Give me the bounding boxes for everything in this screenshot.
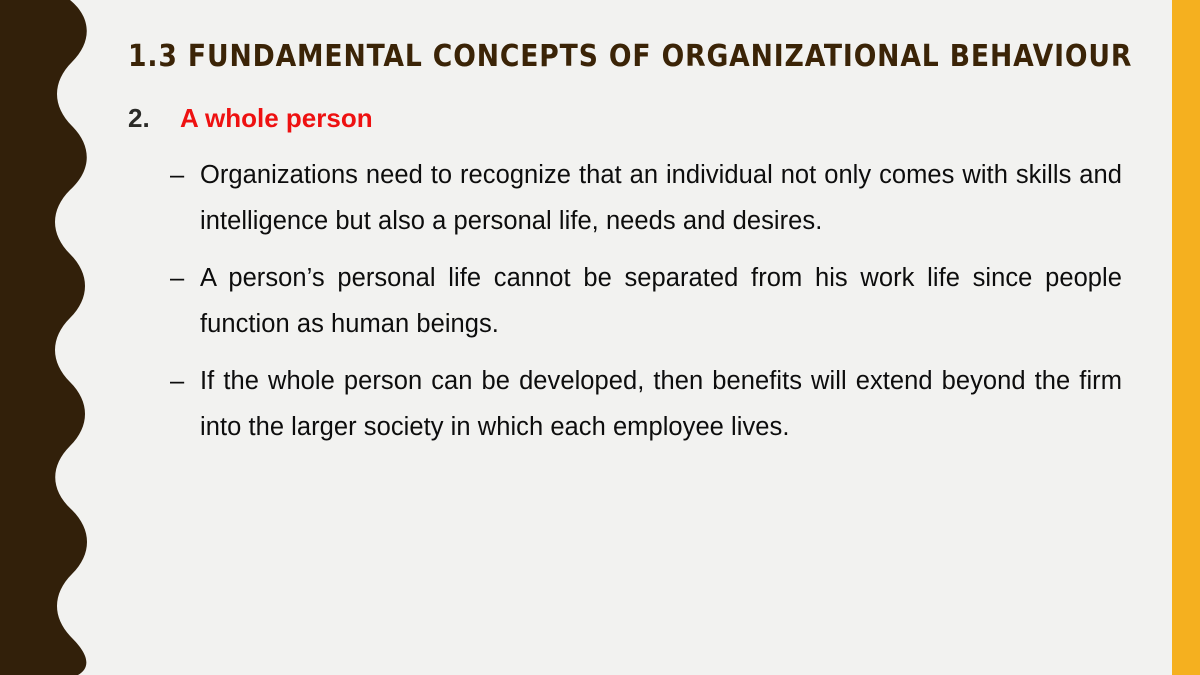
slide-content: 1.3 FUNDAMENTAL CONCEPTS OF ORGANIZATION… [0, 0, 1200, 675]
heading-number: 2. [128, 103, 180, 134]
list-item-text: Organizations need to recognize that an … [200, 161, 1122, 235]
list-item-text: A person’s personal life cannot be separ… [200, 264, 1122, 338]
wave-shape-path [0, 0, 87, 675]
heading-text: A whole person [180, 103, 373, 134]
list-item: – If the whole person can be developed, … [170, 358, 1122, 450]
bullet-dash-icon: – [170, 152, 184, 198]
bullet-dash-icon: – [170, 255, 184, 301]
list-item: – Organizations need to recognize that a… [170, 152, 1122, 244]
left-wave-decoration [0, 0, 100, 675]
bullet-dash-icon: – [170, 358, 184, 404]
slide-canvas: 1.3 FUNDAMENTAL CONCEPTS OF ORGANIZATION… [0, 0, 1200, 675]
right-accent-stripe [1172, 0, 1200, 675]
bullet-list: – Organizations need to recognize that a… [170, 152, 1122, 450]
list-item: – A person’s personal life cannot be sep… [170, 255, 1122, 347]
list-item-text: If the whole person can be developed, th… [200, 367, 1122, 441]
numbered-heading: 2. A whole person [128, 103, 1108, 134]
page-title: 1.3 FUNDAMENTAL CONCEPTS OF ORGANIZATION… [128, 40, 1088, 74]
